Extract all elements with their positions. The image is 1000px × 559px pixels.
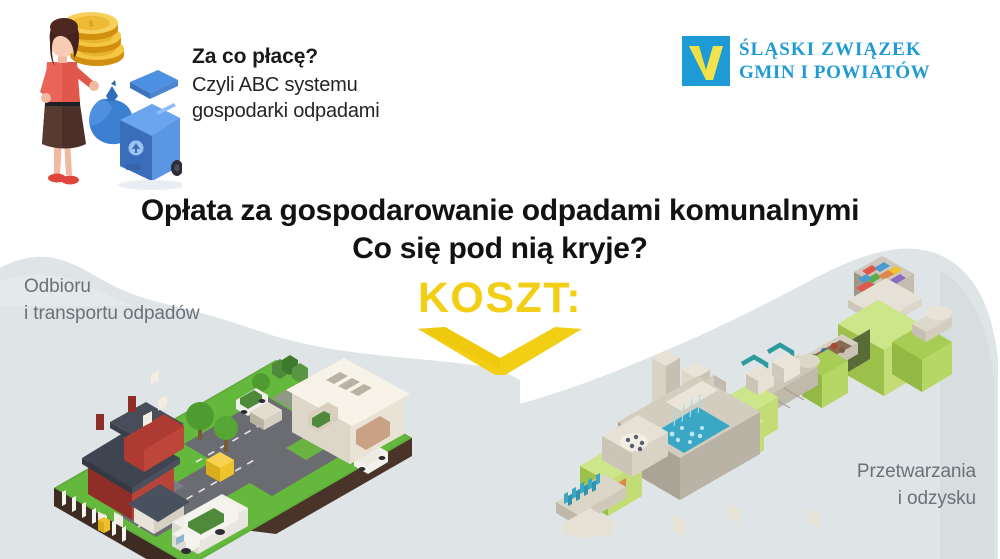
- infographic-canvas: $ $ $: [0, 0, 1000, 559]
- right-caption-line2: i odzysku: [857, 485, 976, 512]
- small-yellow-bin: [98, 517, 110, 533]
- organization-logo[interactable]: ŚLĄSKI ZWIĄZEK GMIN I POWIATÓW: [682, 36, 930, 86]
- headline-line1: Opłata za gospodarowanie odpadami komuna…: [0, 192, 1000, 230]
- logo-wordmark: ŚLĄSKI ZWIĄZEK GMIN I POWIATÓW: [739, 38, 930, 84]
- blue-wheelie-bin: [120, 70, 182, 181]
- headline-line2: Co się pod nią kryje?: [0, 230, 1000, 268]
- intro-subtitle-line2: gospodarki odpadami: [192, 98, 532, 124]
- intro-text-block: Za co płacę? Czyli ABC systemu gospodark…: [192, 44, 532, 124]
- svg-text:$: $: [88, 19, 93, 28]
- intro-title: Za co płacę?: [192, 44, 532, 69]
- right-caption-line1: Przetwarzania: [857, 458, 976, 485]
- right-caption: Przetwarzania i odzysku: [857, 458, 976, 512]
- cost-callout: KOSZT:: [0, 275, 1000, 377]
- intro-subtitle-line1: Czyli ABC systemu: [192, 72, 532, 98]
- yellow-v-in-blue-square-icon: [682, 36, 730, 86]
- woman-with-waste-bag-illustration: $ $ $: [12, 8, 182, 193]
- chevron-down-icon: [415, 325, 585, 377]
- cost-label: KOSZT:: [418, 275, 582, 321]
- page-title: Opłata za gospodarowanie odpadami komuna…: [0, 192, 1000, 268]
- logo-line1: ŚLĄSKI ZWIĄZEK: [739, 38, 930, 61]
- logo-line2: GMIN I POWIATÓW: [739, 61, 930, 84]
